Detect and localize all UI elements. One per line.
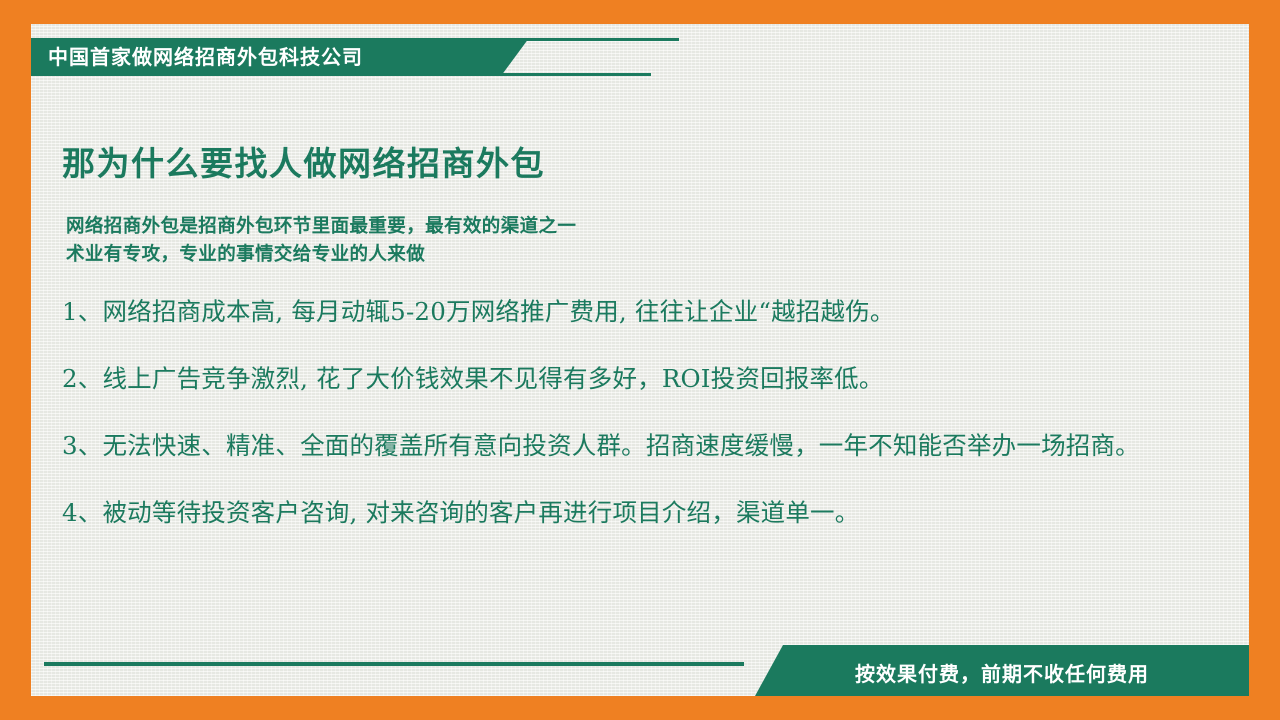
page-title: 那为什么要找人做网络招商外包 bbox=[62, 137, 545, 185]
list-item: 2、线上广告竞争激烈, 花了大价钱效果不见得有多好，ROI投资回报率低。 bbox=[62, 362, 1192, 396]
list-item: 4、被动等待投资客户咨询, 对来咨询的客户再进行项目介绍，渠道单一。 bbox=[62, 496, 1192, 530]
list-item: 3、无法快速、精准、全面的覆盖所有意向投资人群。招商速度缓慢，一年不知能否举办一… bbox=[62, 429, 1192, 463]
subtitle-line-2: 术业有专攻，专业的事情交给专业的人来做 bbox=[66, 240, 576, 268]
slide-root: 中国首家做网络招商外包科技公司 那为什么要找人做网络招商外包 网络招商外包是招商… bbox=[0, 0, 1280, 720]
header-banner-rule-bottom bbox=[501, 73, 651, 76]
footer-banner-label: 按效果付费，前期不收任何费用 bbox=[855, 658, 1149, 687]
list-item: 1、网络招商成本高, 每月动辄5-20万网络推广费用, 往往让企业“越招越伤。 bbox=[62, 295, 1192, 329]
subtitle-block: 网络招商外包是招商外包环节里面最重要，最有效的渠道之一 术业有专攻，专业的事情交… bbox=[66, 212, 576, 268]
header-banner-arrow bbox=[501, 38, 529, 76]
header-banner-rule-top bbox=[501, 38, 679, 41]
body-list: 1、网络招商成本高, 每月动辄5-20万网络推广费用, 往往让企业“越招越伤。 … bbox=[62, 295, 1192, 530]
subtitle-line-1: 网络招商外包是招商外包环节里面最重要，最有效的渠道之一 bbox=[66, 212, 576, 240]
footer-rule bbox=[44, 662, 744, 666]
header-banner-label: 中国首家做网络招商外包科技公司 bbox=[48, 47, 488, 69]
footer-banner-arrow bbox=[755, 645, 783, 696]
